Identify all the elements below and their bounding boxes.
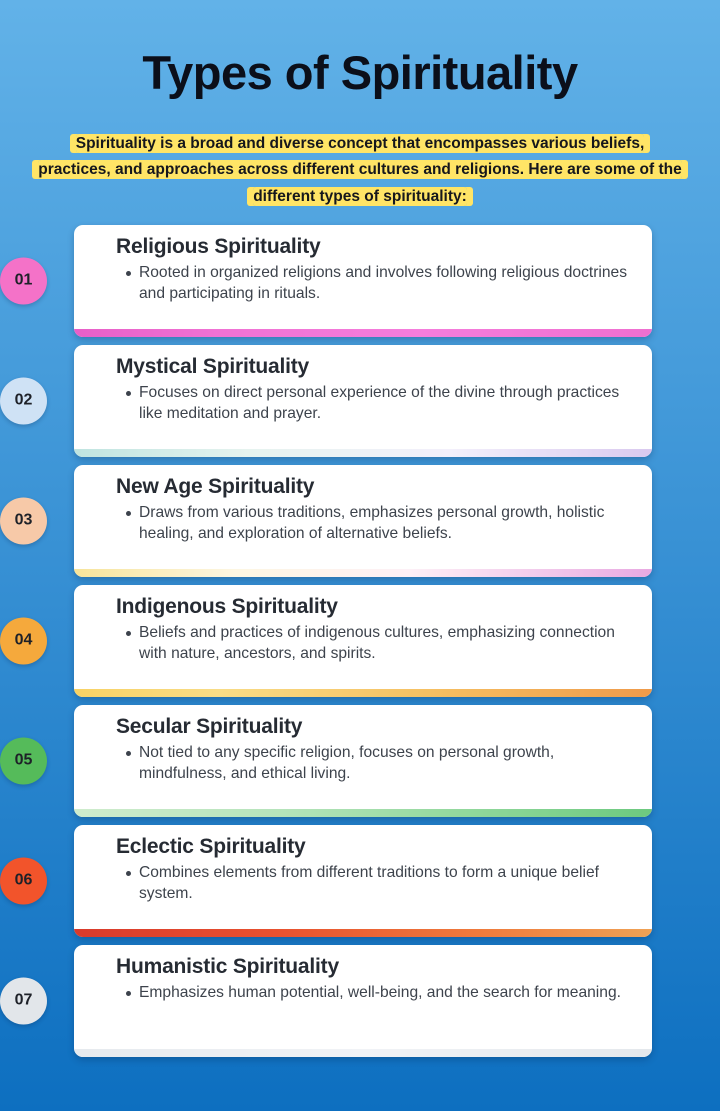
bullet-dot-icon xyxy=(126,271,131,276)
intro-text: Spirituality is a broad and diverse conc… xyxy=(38,134,681,206)
card-title: Secular Spirituality xyxy=(116,715,634,739)
card-number-badge: 04 xyxy=(0,617,47,664)
list-item: Religious Spirituality Rooted in organiz… xyxy=(0,225,720,337)
bullet-dot-icon xyxy=(126,631,131,636)
list-item: New Age Spirituality Draws from various … xyxy=(0,465,720,577)
card-description: Rooted in organized religions and involv… xyxy=(139,262,634,304)
card-bullet: Rooted in organized religions and involv… xyxy=(116,262,634,304)
card-number-label: 04 xyxy=(15,632,33,650)
card-bullet: Focuses on direct personal experience of… xyxy=(116,382,634,424)
card-accent-bar xyxy=(74,449,652,457)
card-number-label: 03 xyxy=(15,512,33,530)
card-07[interactable]: Humanistic Spirituality Emphasizes human… xyxy=(74,945,652,1057)
bullet-dot-icon xyxy=(126,391,131,396)
card-description: Not tied to any specific religion, focus… xyxy=(139,742,634,784)
card-title: Mystical Spirituality xyxy=(116,355,634,379)
infographic-page: Types of Spirituality Spirituality is a … xyxy=(0,31,720,1111)
card-description: Draws from various traditions, emphasize… xyxy=(139,502,634,544)
card-accent-bar xyxy=(74,689,652,697)
list-item: Eclectic Spirituality Combines elements … xyxy=(0,825,720,937)
card-number-badge: 07 xyxy=(0,977,47,1024)
card-number-badge: 03 xyxy=(0,497,47,544)
card-accent-bar xyxy=(74,1049,652,1057)
list-item: Secular Spirituality Not tied to any spe… xyxy=(0,705,720,817)
card-bullet: Not tied to any specific religion, focus… xyxy=(116,742,634,784)
card-number-label: 07 xyxy=(15,992,33,1010)
card-bullet: Beliefs and practices of indigenous cult… xyxy=(116,622,634,664)
card-accent-bar xyxy=(74,929,652,937)
card-accent-bar xyxy=(74,569,652,577)
spirituality-type-list: Religious Spirituality Rooted in organiz… xyxy=(0,225,720,1057)
card-title: Religious Spirituality xyxy=(116,235,634,259)
card-description: Focuses on direct personal experience of… xyxy=(139,382,634,424)
card-02[interactable]: Mystical Spirituality Focuses on direct … xyxy=(74,345,652,457)
card-number-label: 06 xyxy=(15,872,33,890)
list-item: Mystical Spirituality Focuses on direct … xyxy=(0,345,720,457)
card-accent-bar xyxy=(74,809,652,817)
card-number-badge: 02 xyxy=(0,377,47,424)
card-title: New Age Spirituality xyxy=(116,475,634,499)
card-number-badge: 05 xyxy=(0,737,47,784)
card-title: Indigenous Spirituality xyxy=(116,595,634,619)
list-item: Humanistic Spirituality Emphasizes human… xyxy=(0,945,720,1057)
card-bullet: Draws from various traditions, emphasize… xyxy=(116,502,634,544)
card-04[interactable]: Indigenous Spirituality Beliefs and prac… xyxy=(74,585,652,697)
card-bullet: Combines elements from different traditi… xyxy=(116,862,634,904)
card-title: Eclectic Spirituality xyxy=(116,835,634,859)
card-01[interactable]: Religious Spirituality Rooted in organiz… xyxy=(74,225,652,337)
card-accent-bar xyxy=(74,329,652,337)
card-description: Emphasizes human potential, well-being, … xyxy=(139,982,621,1003)
card-number-label: 01 xyxy=(15,272,33,290)
card-description: Combines elements from different traditi… xyxy=(139,862,634,904)
card-number-label: 02 xyxy=(15,392,33,410)
card-number-label: 05 xyxy=(15,752,33,770)
bullet-dot-icon xyxy=(126,511,131,516)
bullet-dot-icon xyxy=(126,751,131,756)
card-number-badge: 06 xyxy=(0,857,47,904)
card-bullet: Emphasizes human potential, well-being, … xyxy=(116,982,634,1003)
intro-banner: Spirituality is a broad and diverse conc… xyxy=(38,131,682,211)
card-06[interactable]: Eclectic Spirituality Combines elements … xyxy=(74,825,652,937)
bullet-dot-icon xyxy=(126,991,131,996)
card-description: Beliefs and practices of indigenous cult… xyxy=(139,622,634,664)
list-item: Indigenous Spirituality Beliefs and prac… xyxy=(0,585,720,697)
page-title: Types of Spirituality xyxy=(0,31,720,99)
card-03[interactable]: New Age Spirituality Draws from various … xyxy=(74,465,652,577)
card-number-badge: 01 xyxy=(0,257,47,304)
bullet-dot-icon xyxy=(126,871,131,876)
card-title: Humanistic Spirituality xyxy=(116,955,634,979)
card-05[interactable]: Secular Spirituality Not tied to any spe… xyxy=(74,705,652,817)
